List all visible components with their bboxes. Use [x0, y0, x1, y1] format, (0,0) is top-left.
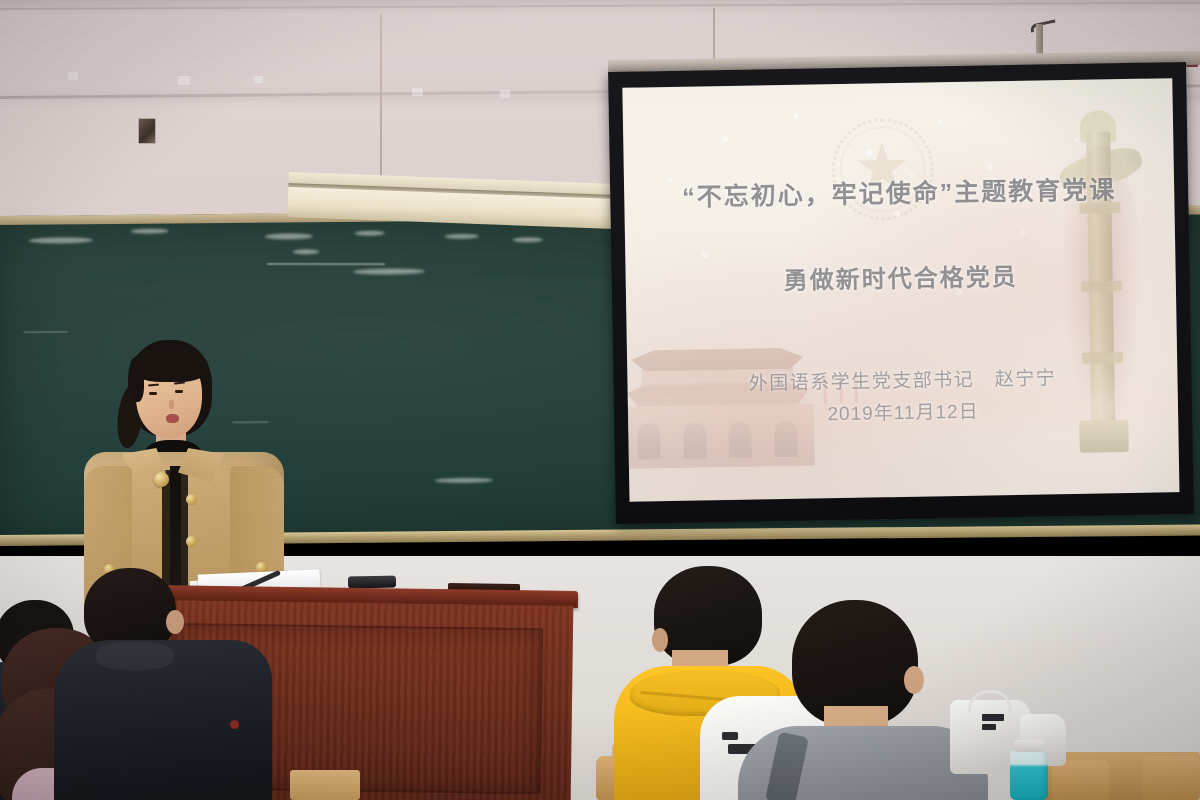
- student-chair: [1052, 760, 1110, 800]
- presentation-clicker[interactable]: [348, 576, 396, 589]
- slide-date: 2019年11月12日: [827, 396, 979, 426]
- jacket-accent: [230, 720, 239, 729]
- coat-button: [186, 494, 197, 505]
- slide-presenter: 外国语系学生党支部书记 赵宁宁: [748, 363, 1056, 395]
- student-desk: [290, 770, 360, 800]
- wall-socket: [138, 118, 156, 144]
- chalk-smudge: [513, 237, 543, 242]
- light-suspension-cord: [380, 14, 382, 176]
- slide-surface: “不忘初心，牢记使命”主题教育党课 勇做新时代合格党员 外国语系学生党支部书记 …: [622, 78, 1179, 502]
- chalk-smudge: [435, 478, 493, 484]
- student-chair: [1142, 756, 1200, 800]
- bottle-cap: [1014, 740, 1044, 752]
- projection-screen[interactable]: “不忘初心，牢记使命”主题教育党课 勇做新时代合格党员 外国语系学生党支部书记 …: [608, 62, 1194, 524]
- shirt-print: [722, 732, 738, 740]
- eye-right: [175, 390, 183, 393]
- slide-text-block: “不忘初心，牢记使命”主题教育党课 勇做新时代合格党员 外国语系学生党支部书记 …: [622, 78, 1179, 502]
- chalk-smudge: [353, 268, 425, 275]
- wall-patch: [412, 88, 423, 96]
- water-bottle: [1010, 750, 1048, 800]
- brooch: [154, 472, 169, 487]
- eye-left: [149, 392, 157, 395]
- coat-button: [186, 536, 197, 547]
- wall-patch: [68, 72, 78, 80]
- chalk-smudge: [265, 233, 313, 239]
- chalk-smudge: [355, 231, 385, 236]
- list-item: [58, 568, 288, 800]
- ear: [904, 666, 924, 694]
- slide-subtitle: 勇做新时代合格党员: [783, 257, 1018, 296]
- chalk-smudge: [445, 234, 479, 239]
- jacket-collar: [96, 642, 174, 670]
- hair-side: [128, 360, 144, 402]
- nose: [169, 400, 174, 409]
- wall-patch: [254, 76, 263, 83]
- chalk-smudge: [29, 237, 93, 244]
- chalk-streak: [24, 331, 68, 332]
- chalk-smudge: [293, 249, 319, 254]
- slide-title: “不忘初心，牢记使命”主题教育党课: [682, 170, 1117, 214]
- wall-patch: [178, 76, 190, 85]
- chalk-streak: [267, 263, 385, 265]
- mouth: [166, 414, 179, 423]
- tote-bag-logo: [982, 714, 1004, 721]
- ear: [652, 628, 668, 652]
- classroom-photo: “不忘初心，牢记使命”主题教育党课 勇做新时代合格党员 外国语系学生党支部书记 …: [0, 0, 1200, 800]
- wall-patch: [500, 90, 510, 98]
- chalk-smudge: [131, 228, 169, 233]
- ear: [166, 610, 184, 634]
- tote-bag-logo: [982, 724, 996, 730]
